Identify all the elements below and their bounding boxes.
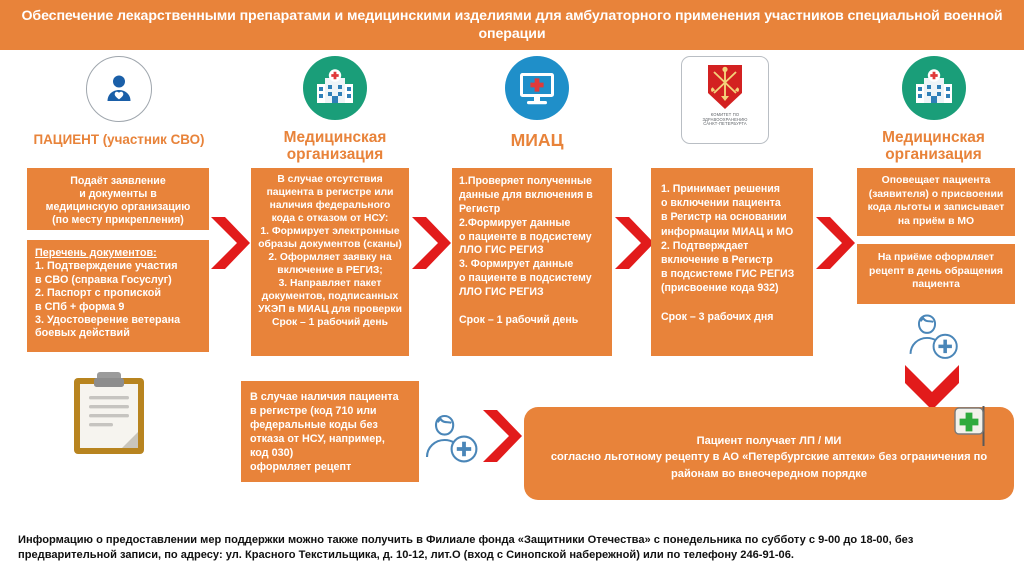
column-medical-org-1: Медицинская организация	[250, 50, 420, 164]
card-committee-decisions: 1. Принимает решения о включении пациент…	[651, 168, 813, 356]
card-mo-present-in-register: В случае наличия пациента в регистре (ко…	[241, 381, 419, 482]
card-miac-actions: 1.Проверяет полученные данные для включе…	[452, 168, 612, 356]
spb-coat-of-arms-icon	[705, 63, 745, 111]
infographic-page: Обеспечение лекарственными препаратами и…	[0, 0, 1024, 574]
medical-org-1-role-label: Медицинская организация	[284, 129, 387, 164]
clipboard-documents-icon	[72, 372, 146, 463]
patient-plus-icon-1	[420, 408, 482, 475]
chevron-right-arrow-1	[208, 215, 252, 276]
pharmacy-cross-sign-icon	[953, 404, 991, 453]
patient-header: ПАЦИЕНТ (участник СВО)	[14, 50, 224, 147]
card-patient-documents: Перечень документов: 1. Подтверждение уч…	[27, 240, 209, 352]
documents-list-items: 1. Подтверждение участия в СВО (справка …	[35, 260, 201, 340]
column-patient: ПАЦИЕНТ (участник СВО)	[14, 50, 224, 147]
medical-org-1-header: Медицинская организация	[250, 50, 420, 164]
column-medical-org-2: Медицинская организация	[856, 50, 1011, 164]
result-banner: Пациент получает ЛП / МИ согласно льготн…	[524, 407, 1014, 500]
medical-org-2-role-label: Медицинская организация	[882, 129, 985, 164]
footer-note: Информацию о предоставлении мер поддержк…	[0, 533, 1024, 574]
hospital-icon	[303, 56, 367, 120]
footer-text: Информацию о предоставлении мер поддержк…	[18, 533, 1006, 565]
patient-heart-icon	[86, 56, 152, 122]
patient-role-label: ПАЦИЕНТ (участник СВО)	[34, 132, 205, 147]
hospital-icon-2	[902, 56, 966, 120]
miac-header: МИАЦ	[452, 50, 622, 151]
committee-logo-caption: КОМИТЕТ ПО ЗДРАВООХРАНЕНИЮ САНКТ-ПЕТЕРБУ…	[702, 113, 747, 127]
card-mo-notify-patient: Оповещает пациента (заявителя) о присвое…	[857, 168, 1015, 236]
miac-role-label: МИАЦ	[511, 131, 564, 151]
chevron-right-arrow-2	[409, 215, 453, 276]
documents-list-heading: Перечень документов:	[35, 247, 201, 260]
card-patient-application: Подаёт заявление и документы в медицинск…	[27, 168, 209, 230]
card-mo-issue-prescription: На приёме оформляет рецепт в день обраще…	[857, 244, 1015, 304]
spb-health-committee-logo: КОМИТЕТ ПО ЗДРАВООХРАНЕНИЮ САНКТ-ПЕТЕРБУ…	[681, 56, 769, 144]
medical-org-2-header: Медицинская организация	[856, 50, 1011, 164]
page-title: Обеспечение лекарственными препаратами и…	[0, 7, 1024, 43]
chevron-right-arrow-3	[612, 215, 656, 276]
chevron-right-arrow-bottom	[480, 408, 524, 469]
monitor-cross-icon	[505, 56, 569, 120]
column-miac: МИАЦ	[452, 50, 622, 151]
header-banner: Обеспечение лекарственными препаратами и…	[0, 0, 1024, 50]
chevron-right-arrow-4	[813, 215, 857, 276]
card-mo-absent-in-register: В случае отсутствия пациента в регистре …	[251, 168, 409, 356]
